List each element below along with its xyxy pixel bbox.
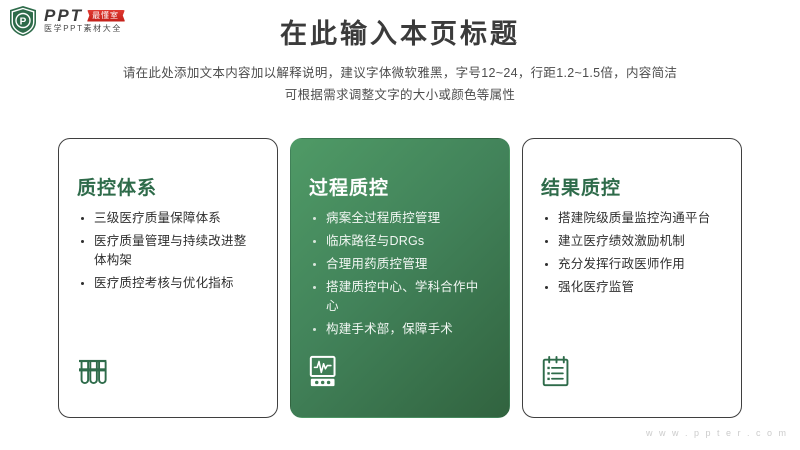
list-item: 搭建院级质量监控沟通平台	[541, 209, 723, 228]
card-outcome-quality[interactable]: 结果质控 搭建院级质量监控沟通平台 建立医疗绩效激励机制 充分发挥行政医师作用 …	[522, 138, 742, 418]
card-bullet-list: 搭建院级质量监控沟通平台 建立医疗绩效激励机制 充分发挥行政医师作用 强化医疗监…	[541, 209, 723, 301]
list-item: 病案全过程质控管理	[309, 209, 491, 228]
clipboard-list-icon	[541, 355, 572, 393]
site-watermark: w w w . p p t e r . c o m	[646, 428, 788, 438]
list-item: 医疗质量管理与持续改进整体构架	[77, 232, 259, 270]
test-tubes-icon	[77, 357, 108, 393]
card-group: 质控体系 三级医疗质量保障体系 医疗质量管理与持续改进整体构架 医疗质控考核与优…	[58, 138, 742, 418]
list-item: 三级医疗质量保障体系	[77, 209, 259, 228]
subtitle-line-2: 可根据需求调整文字的大小或颜色等属性	[0, 84, 800, 106]
card-quality-system[interactable]: 质控体系 三级医疗质量保障体系 医疗质量管理与持续改进整体构架 医疗质控考核与优…	[58, 138, 278, 418]
list-item: 医疗质控考核与优化指标	[77, 274, 259, 293]
card-bullet-list: 病案全过程质控管理 临床路径与DRGs 合理用药质控管理 搭建质控中心、学科合作…	[309, 209, 491, 343]
page-title: 在此输入本页标题	[0, 12, 800, 51]
ecg-monitor-icon	[309, 355, 340, 393]
list-item: 充分发挥行政医师作用	[541, 255, 723, 274]
list-item: 建立医疗绩效激励机制	[541, 232, 723, 251]
list-item: 搭建质控中心、学科合作中心	[309, 278, 491, 316]
list-item: 构建手术部，保障手术	[309, 320, 491, 339]
card-bullet-list: 三级医疗质量保障体系 医疗质量管理与持续改进整体构架 医疗质控考核与优化指标	[77, 209, 259, 297]
card-title: 质控体系	[77, 173, 259, 200]
card-process-quality[interactable]: 过程质控 病案全过程质控管理 临床路径与DRGs 合理用药质控管理 搭建质控中心…	[290, 138, 510, 418]
page-subtitle: 请在此处添加文本内容加以解释说明，建议字体微软雅黑，字号12~24，行距1.2~…	[0, 62, 800, 106]
list-item: 强化医疗监管	[541, 278, 723, 297]
list-item: 合理用药质控管理	[309, 255, 491, 274]
card-title: 结果质控	[541, 173, 723, 200]
card-title: 过程质控	[309, 173, 491, 200]
subtitle-line-1: 请在此处添加文本内容加以解释说明，建议字体微软雅黑，字号12~24，行距1.2~…	[0, 62, 800, 84]
list-item: 临床路径与DRGs	[309, 232, 491, 251]
